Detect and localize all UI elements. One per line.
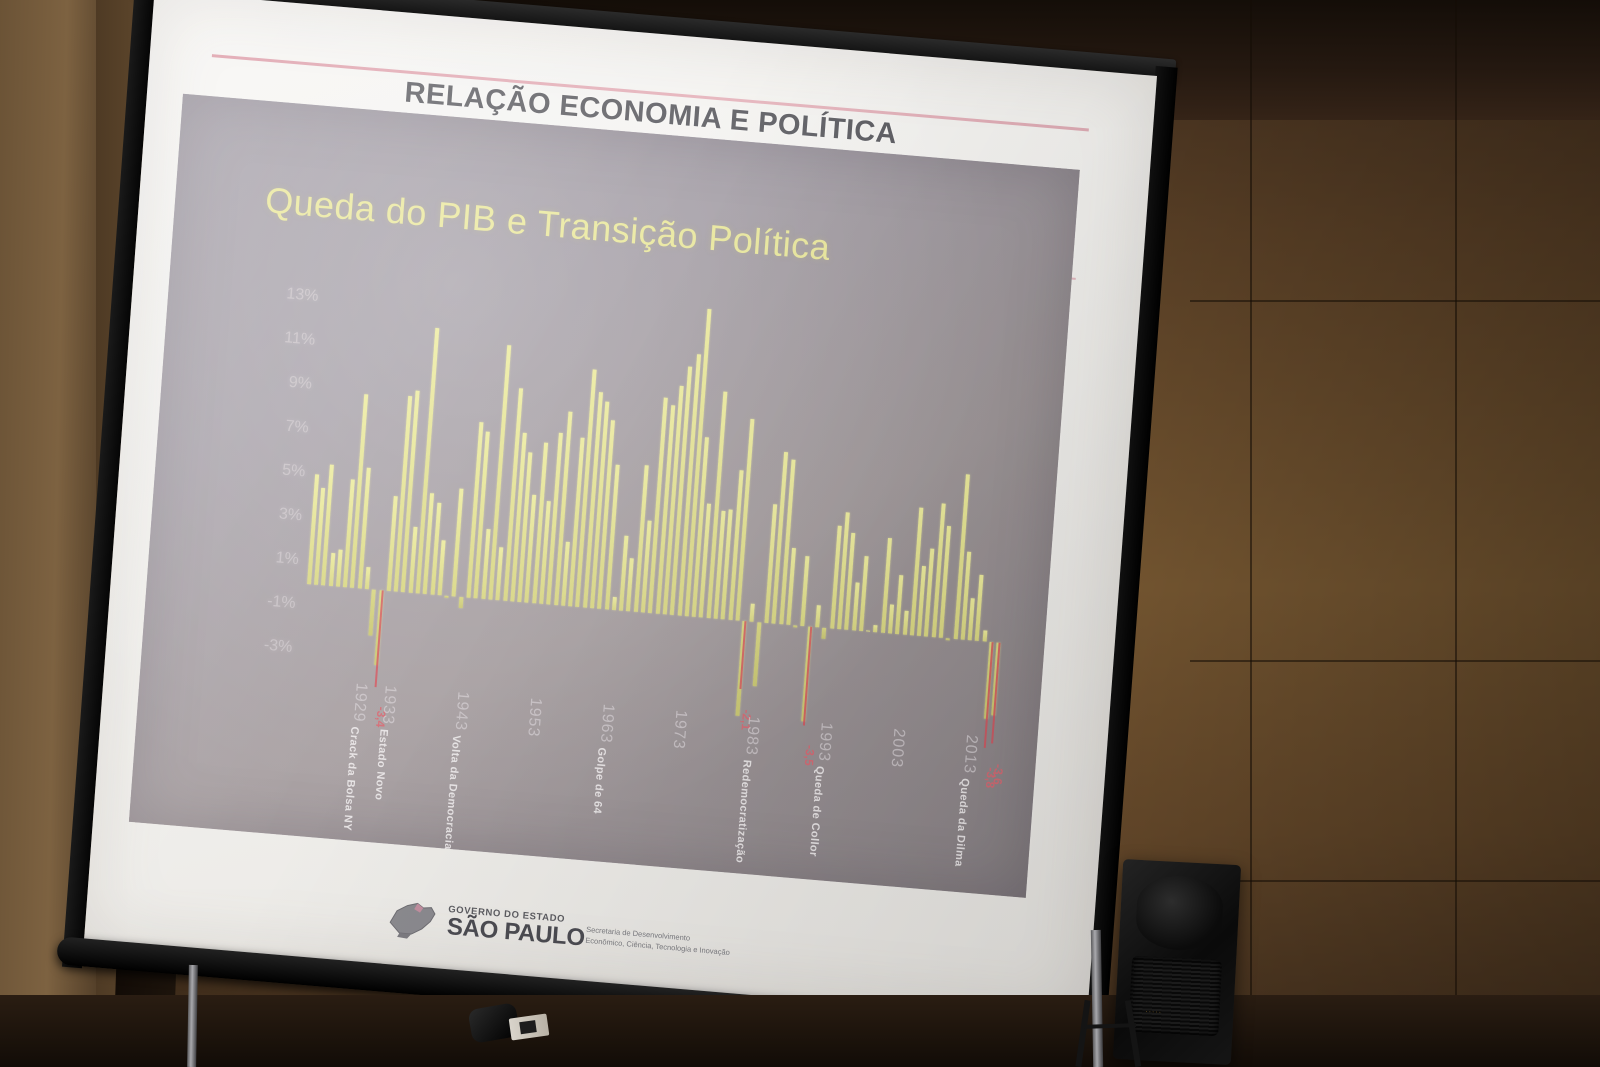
y-axis-tick: 5% — [282, 462, 306, 482]
bar — [982, 630, 987, 641]
bar — [968, 598, 975, 640]
secretariat-text: Secretaria de Desenvolvimento Econômico,… — [585, 925, 731, 959]
speaker-cone — [1135, 874, 1225, 952]
bar — [452, 489, 464, 597]
bar — [445, 596, 449, 599]
bar — [888, 605, 894, 634]
x-axis-event-label: Queda de Collor — [807, 765, 826, 857]
x-axis-year: 2003 — [887, 728, 908, 769]
x-axis-year: 2013 — [959, 734, 980, 775]
x-axis-tick-group: 2003 — [887, 728, 908, 769]
bar — [365, 567, 371, 589]
bar — [336, 549, 343, 587]
bar — [437, 540, 445, 595]
x-axis-tick-group: 1963Golpe de 64 — [591, 703, 617, 815]
y-axis-tick: 11% — [284, 329, 316, 350]
photo-scene: RELAÇÃO ECONOMIA E POLÍTICA Queda do PIB… — [0, 0, 1600, 1067]
bar — [852, 582, 860, 631]
y-axis-tick: 9% — [288, 374, 312, 394]
y-axis-tick: -3% — [263, 637, 293, 657]
chart-title: Queda do PIB e Transição Política — [264, 179, 1024, 285]
y-axis-tick: 1% — [275, 549, 299, 569]
x-axis-tick-group: 1933Estado Novo — [372, 685, 398, 801]
wall-panel-seam — [1190, 880, 1600, 882]
chart-container: Queda do PIB e Transição Política 13%11%… — [129, 94, 1080, 898]
bar — [626, 558, 634, 611]
bar — [496, 547, 504, 600]
y-axis-tick: 3% — [278, 505, 302, 525]
bar — [612, 597, 617, 610]
microphone-flag-tag — [509, 1013, 550, 1040]
bar — [873, 625, 877, 632]
sao-paulo-logo: GOVERNO DO ESTADO SÃO PAULO — [385, 896, 587, 955]
bar — [801, 556, 810, 627]
x-axis-event-label: Estado Novo — [372, 728, 389, 800]
bar — [815, 605, 821, 627]
y-axis-tick: -1% — [266, 593, 296, 613]
projection-screen: RELAÇÃO ECONOMIA E POLÍTICA Queda do PIB… — [44, 0, 1187, 1067]
bar — [859, 556, 869, 631]
lower-wall-shadow — [0, 995, 1600, 1067]
x-axis-event-label: Golpe de 64 — [591, 747, 608, 815]
x-axis-tick-group: 1973 — [669, 709, 690, 750]
bar — [793, 625, 797, 628]
x-axis-tick-group: 1929Crack da Bolsa NY — [341, 682, 370, 831]
bar — [946, 638, 950, 641]
x-axis-event-label: Volta da Democracia — [442, 734, 462, 850]
wall-panel-seam — [1190, 300, 1600, 302]
x-axis-tick-group: 1993Queda de Collor — [807, 722, 835, 858]
bar — [328, 553, 334, 586]
x-axis-year: 1953 — [523, 697, 544, 738]
x-axis-event-label: Redemocratização — [733, 759, 753, 863]
sao-paulo-map-icon — [385, 896, 442, 942]
x-axis-event-label: Queda da Dilma — [952, 777, 971, 867]
x-axis-year: 1933 — [378, 685, 399, 726]
bar — [752, 622, 761, 686]
y-axis-tick: 7% — [285, 418, 309, 438]
logo-text: GOVERNO DO ESTADO SÃO PAULO — [446, 905, 586, 951]
wall-panel-seam — [1250, 0, 1252, 1067]
plot-area: -3,4-2,1-3,5-3,8-3,6 — [298, 277, 1025, 731]
wall-panel-seam — [1455, 0, 1457, 1067]
bar — [902, 610, 908, 634]
speaker-tripod — [1076, 1000, 1196, 1067]
wall-panel-seam — [1190, 660, 1600, 662]
x-axis-year: 1963 — [596, 703, 617, 744]
x-axis-tick-group: 1943Volta da Democracia — [442, 691, 472, 851]
bar — [369, 590, 376, 636]
bar — [822, 628, 827, 639]
bar — [750, 604, 755, 622]
x-axis-year: 1929 — [349, 682, 370, 723]
x-axis-tick-group: 1953 — [523, 697, 544, 738]
microphone-object — [470, 1000, 548, 1060]
x-axis-year: 1983 — [741, 715, 762, 756]
x-axis-year: 1943 — [451, 691, 472, 732]
bar-series: -3,4-2,1-3,5-3,8-3,6 — [298, 277, 1025, 731]
presentation-slide: RELAÇÃO ECONOMIA E POLÍTICA Queda do PIB… — [84, 0, 1157, 1025]
bar — [458, 597, 463, 608]
y-axis-tick: 13% — [286, 285, 319, 306]
x-axis-year: 1973 — [669, 709, 690, 750]
x-axis-event-label: Crack da Bolsa NY — [341, 726, 361, 831]
x-axis-tick-group: 2013Queda da Dilma — [952, 734, 980, 867]
x-axis-tick-group: 1983Redemocratização — [733, 715, 762, 863]
bar — [866, 630, 870, 631]
x-axis-year: 1993 — [814, 722, 835, 763]
screen-stand-pole-left — [187, 965, 198, 1067]
